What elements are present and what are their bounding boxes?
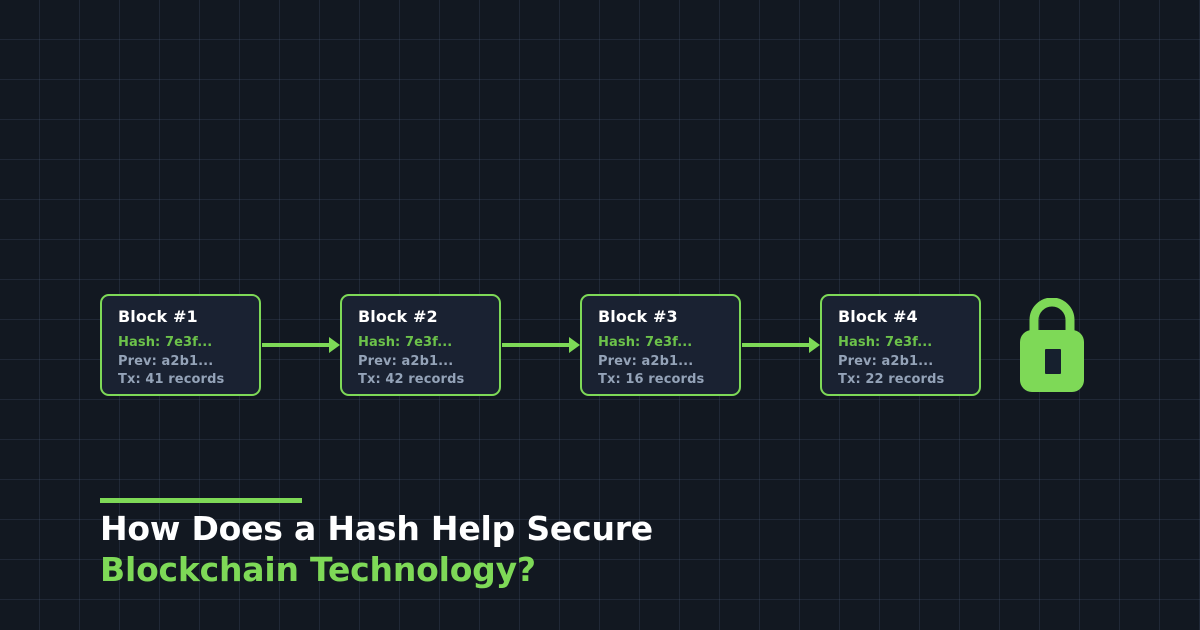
block-card-1[interactable]: Block #1 Hash: 7e3f... Prev: a2b1... Tx:…: [100, 294, 261, 396]
arrow-head-icon: [809, 337, 820, 353]
block-prev-line: Prev: a2b1...: [598, 353, 739, 372]
arrow-shaft: [502, 343, 570, 347]
block-hash-line: Hash: 7e3f...: [118, 334, 259, 353]
arrow-block2-to-block3: [502, 337, 580, 355]
block-detail-lines: Hash: 7e3f... Prev: a2b1... Tx: 16 recor…: [598, 334, 739, 390]
block-title: Block #4: [838, 307, 979, 327]
arrow-shaft: [742, 343, 810, 347]
block-tx-line: Tx: 41 records: [118, 371, 259, 390]
headline-line-2: Blockchain Technology?: [100, 549, 1100, 590]
arrow-shaft: [262, 343, 330, 347]
headline-line-1: How Does a Hash Help Secure: [100, 508, 1100, 549]
block-detail-lines: Hash: 7e3f... Prev: a2b1... Tx: 41 recor…: [118, 334, 259, 390]
block-detail-lines: Hash: 7e3f... Prev: a2b1... Tx: 42 recor…: [358, 334, 499, 390]
block-hash-line: Hash: 7e3f...: [598, 334, 739, 353]
arrow-block3-to-block4: [742, 337, 820, 355]
block-title: Block #3: [598, 307, 739, 327]
block-card-3[interactable]: Block #3 Hash: 7e3f... Prev: a2b1... Tx:…: [580, 294, 741, 396]
block-card-4[interactable]: Block #4 Hash: 7e3f... Prev: a2b1... Tx:…: [820, 294, 981, 396]
block-detail-lines: Hash: 7e3f... Prev: a2b1... Tx: 22 recor…: [838, 334, 979, 390]
block-title: Block #1: [118, 307, 259, 327]
block-hash-line: Hash: 7e3f...: [358, 334, 499, 353]
block-prev-line: Prev: a2b1...: [118, 353, 259, 372]
padlock-icon: [1018, 298, 1088, 398]
block-tx-line: Tx: 16 records: [598, 371, 739, 390]
block-tx-line: Tx: 22 records: [838, 371, 979, 390]
block-tx-line: Tx: 42 records: [358, 371, 499, 390]
headline: How Does a Hash Help Secure Blockchain T…: [100, 508, 1100, 590]
block-card-2[interactable]: Block #2 Hash: 7e3f... Prev: a2b1... Tx:…: [340, 294, 501, 396]
arrow-head-icon: [569, 337, 580, 353]
block-hash-line: Hash: 7e3f...: [838, 334, 979, 353]
block-title: Block #2: [358, 307, 499, 327]
block-prev-line: Prev: a2b1...: [838, 353, 979, 372]
block-prev-line: Prev: a2b1...: [358, 353, 499, 372]
poster-canvas: Block #1 Hash: 7e3f... Prev: a2b1... Tx:…: [0, 0, 1200, 630]
arrow-head-icon: [329, 337, 340, 353]
arrow-block1-to-block2: [262, 337, 340, 355]
accent-bar: [100, 498, 302, 503]
